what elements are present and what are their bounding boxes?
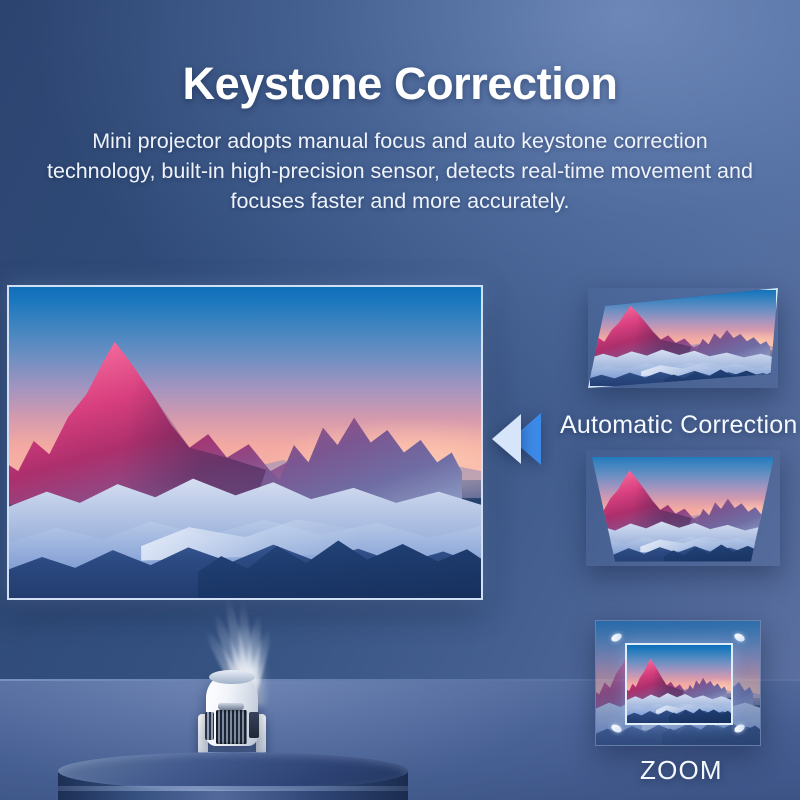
projector-vent-right (249, 712, 259, 738)
product-feature-image: Keystone Correction Mini projector adopt… (0, 0, 800, 800)
tilted-frame-border (588, 288, 778, 388)
automatic-correction-label: Automatic Correction (560, 411, 797, 440)
mountain-scene (9, 287, 481, 598)
pedestal-rim (58, 786, 408, 791)
projector-port-panel (218, 703, 244, 710)
zoom-inset-frame (625, 643, 733, 725)
zoom-projection-panel (595, 620, 761, 746)
projector-top-cap (209, 670, 255, 684)
projector-grille (216, 710, 247, 744)
page-title: Keystone Correction (0, 58, 800, 110)
projected-screen (7, 285, 483, 600)
correction-arrow-group (489, 408, 561, 470)
arrow-left-front-icon (492, 414, 521, 464)
keystone-frame-border (586, 450, 780, 566)
uncorrected-tilted-projection (588, 288, 778, 388)
mountain-scene-zoom-inset (627, 645, 731, 723)
display-pedestal (58, 752, 408, 800)
description-text: Mini projector adopts manual focus and a… (40, 126, 760, 216)
uncorrected-keystone-projection (586, 450, 780, 566)
pedestal-top (58, 752, 408, 790)
zoom-label: ZOOM (640, 755, 723, 786)
projector-vent-left (205, 712, 214, 740)
